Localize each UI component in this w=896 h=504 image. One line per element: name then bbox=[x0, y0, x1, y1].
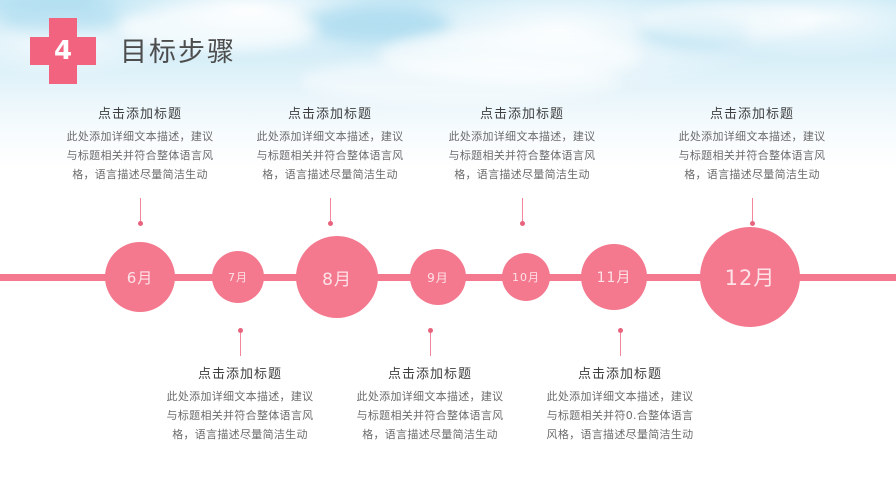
timeline-node-11月[interactable]: 11月 bbox=[581, 244, 647, 310]
section-number-badge: 4 bbox=[30, 18, 96, 84]
timeline-node-10月[interactable]: 10月 bbox=[502, 253, 550, 301]
top-step-title: 点击添加标题 bbox=[230, 103, 430, 122]
pin-dot-icon bbox=[138, 221, 143, 226]
bottom-step-title: 点击添加标题 bbox=[140, 363, 340, 382]
top-step-description-line: 此处添加详细文本描述，建议 bbox=[40, 127, 240, 146]
bottom-step-description-line: 风格，语言描述尽量简洁生动 bbox=[520, 425, 720, 444]
pin-dot-icon bbox=[328, 221, 333, 226]
top-step-title: 点击添加标题 bbox=[422, 103, 622, 122]
bottom-step-description: 此处添加详细文本描述，建议与标题相关并符合整体语言风格，语言描述尽量简洁生动 bbox=[330, 387, 530, 444]
timeline-node-12月[interactable]: 12月 bbox=[700, 227, 800, 327]
bottom-step-description-line: 与标题相关并符合整体语言风 bbox=[330, 406, 530, 425]
bottom-step-block[interactable]: 点击添加标题此处添加详细文本描述，建议与标题相关并符0.合整体语言风格，语言描述… bbox=[520, 363, 720, 444]
timeline-node-label: 6月 bbox=[127, 267, 154, 288]
top-step-description-line: 格，语言描述尽量简洁生动 bbox=[652, 165, 852, 184]
bottom-step-title: 点击添加标题 bbox=[330, 363, 530, 382]
pin-dot-icon bbox=[428, 328, 433, 333]
section-number: 4 bbox=[30, 18, 96, 84]
top-step-description: 此处添加详细文本描述，建议与标题相关并符合整体语言风格，语言描述尽量简洁生动 bbox=[40, 127, 240, 184]
top-step-description: 此处添加详细文本描述，建议与标题相关并符合整体语言风格，语言描述尽量简洁生动 bbox=[652, 127, 852, 184]
bottom-step-description-line: 与标题相关并符0.合整体语言 bbox=[520, 406, 720, 425]
timeline-node-label: 7月 bbox=[228, 269, 248, 285]
top-step-description-line: 与标题相关并符合整体语言风 bbox=[652, 146, 852, 165]
connector-pin-top bbox=[522, 198, 523, 224]
bottom-step-title: 点击添加标题 bbox=[520, 363, 720, 382]
timeline-node-label: 12月 bbox=[725, 262, 776, 292]
cloud-wisp bbox=[640, 2, 820, 40]
timeline-node-6月[interactable]: 6月 bbox=[105, 242, 175, 312]
pin-dot-icon bbox=[618, 328, 623, 333]
bottom-step-description-line: 此处添加详细文本描述，建议 bbox=[520, 387, 720, 406]
timeline-node-label: 11月 bbox=[597, 267, 632, 287]
bottom-step-block[interactable]: 点击添加标题此处添加详细文本描述，建议与标题相关并符合整体语言风格，语言描述尽量… bbox=[330, 363, 530, 444]
connector-pin-top bbox=[330, 198, 331, 224]
pin-dot-icon bbox=[520, 221, 525, 226]
timeline-node-9月[interactable]: 9月 bbox=[410, 249, 466, 305]
bottom-step-description-line: 格，语言描述尽量简洁生动 bbox=[330, 425, 530, 444]
bottom-step-description-line: 此处添加详细文本描述，建议 bbox=[330, 387, 530, 406]
timeline-node-7月[interactable]: 7月 bbox=[212, 251, 264, 303]
connector-pin-bottom bbox=[430, 330, 431, 356]
bottom-step-description: 此处添加详细文本描述，建议与标题相关并符合整体语言风格，语言描述尽量简洁生动 bbox=[140, 387, 340, 444]
top-step-description-line: 此处添加详细文本描述，建议 bbox=[230, 127, 430, 146]
top-step-block[interactable]: 点击添加标题此处添加详细文本描述，建议与标题相关并符合整体语言风格，语言描述尽量… bbox=[40, 103, 240, 184]
connector-pin-top bbox=[140, 198, 141, 224]
timeline-node-label: 10月 bbox=[512, 269, 540, 285]
top-step-description-line: 与标题相关并符合整体语言风 bbox=[230, 146, 430, 165]
top-step-description: 此处添加详细文本描述，建议与标题相关并符合整体语言风格，语言描述尽量简洁生动 bbox=[422, 127, 622, 184]
page-title: 目标步骤 bbox=[120, 30, 236, 69]
bottom-step-description-line: 此处添加详细文本描述，建议 bbox=[140, 387, 340, 406]
top-step-description-line: 格，语言描述尽量简洁生动 bbox=[230, 165, 430, 184]
bottom-step-description: 此处添加详细文本描述，建议与标题相关并符0.合整体语言风格，语言描述尽量简洁生动 bbox=[520, 387, 720, 444]
cloud-wisp bbox=[300, 58, 620, 104]
top-step-block[interactable]: 点击添加标题此处添加详细文本描述，建议与标题相关并符合整体语言风格，语言描述尽量… bbox=[422, 103, 622, 184]
top-step-description-line: 与标题相关并符合整体语言风 bbox=[40, 146, 240, 165]
bottom-step-description-line: 与标题相关并符合整体语言风 bbox=[140, 406, 340, 425]
connector-pin-bottom bbox=[620, 330, 621, 356]
top-step-block[interactable]: 点击添加标题此处添加详细文本描述，建议与标题相关并符合整体语言风格，语言描述尽量… bbox=[652, 103, 852, 184]
top-step-description-line: 格，语言描述尽量简洁生动 bbox=[422, 165, 622, 184]
bottom-step-description-line: 格，语言描述尽量简洁生动 bbox=[140, 425, 340, 444]
top-step-description-line: 此处添加详细文本描述，建议 bbox=[652, 127, 852, 146]
timeline-node-8月[interactable]: 8月 bbox=[296, 236, 378, 318]
top-step-description-line: 此处添加详细文本描述，建议 bbox=[422, 127, 622, 146]
top-step-title: 点击添加标题 bbox=[40, 103, 240, 122]
top-step-title: 点击添加标题 bbox=[652, 103, 852, 122]
bottom-step-block[interactable]: 点击添加标题此处添加详细文本描述，建议与标题相关并符合整体语言风格，语言描述尽量… bbox=[140, 363, 340, 444]
connector-pin-bottom bbox=[240, 330, 241, 356]
top-step-description: 此处添加详细文本描述，建议与标题相关并符合整体语言风格，语言描述尽量简洁生动 bbox=[230, 127, 430, 184]
timeline-node-label: 8月 bbox=[322, 265, 352, 290]
timeline-node-label: 9月 bbox=[427, 269, 449, 286]
top-step-description-line: 与标题相关并符合整体语言风 bbox=[422, 146, 622, 165]
slide-canvas: 4 目标步骤 6月7月8月9月10月11月12月 点击添加标题此处添加详细文本描… bbox=[0, 0, 896, 504]
pin-dot-icon bbox=[238, 328, 243, 333]
pin-dot-icon bbox=[750, 221, 755, 226]
top-step-block[interactable]: 点击添加标题此处添加详细文本描述，建议与标题相关并符合整体语言风格，语言描述尽量… bbox=[230, 103, 430, 184]
top-step-description-line: 格，语言描述尽量简洁生动 bbox=[40, 165, 240, 184]
connector-pin-top bbox=[752, 198, 753, 224]
